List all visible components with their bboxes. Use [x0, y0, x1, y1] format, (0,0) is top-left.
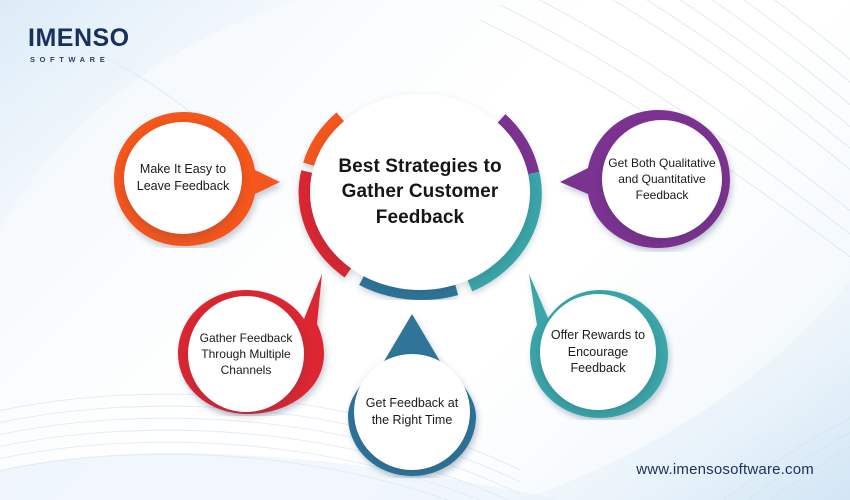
node-multiple-channels-label: Gather Feedback Through Multiple Channel…	[188, 330, 304, 378]
central-hub: Best Strategies to Gather Customer Feedb…	[288, 82, 552, 300]
node-get-both-qual-quant-label: Get Both Qualitative and Quantitative Fe…	[607, 155, 717, 203]
brand-logo: IMENSO SOFTWARE	[28, 26, 130, 64]
node-get-both-qual-quant[interactable]: Get Both Qualitative and Quantitative Fe…	[552, 106, 738, 252]
node-make-it-easy[interactable]: Make It Easy to Leave Feedback	[108, 108, 288, 248]
hub-title-line-3: Feedback	[376, 207, 464, 228]
hub-title-line-1: Best Strategies to	[338, 156, 501, 177]
node-multiple-channels[interactable]: Gather Feedback Through Multiple Channel…	[176, 272, 336, 416]
node-multiple-channels-disc: Gather Feedback Through Multiple Channel…	[188, 296, 304, 412]
node-offer-rewards-label: Offer Rewards to Encourage Feedback	[544, 327, 652, 377]
node-offer-rewards[interactable]: Offer Rewards to Encourage Feedback	[508, 272, 674, 420]
website-url[interactable]: www.imensosoftware.com	[636, 461, 814, 478]
node-right-time-disc: Get Feedback at the Right Time	[354, 354, 470, 470]
hub-title: Best Strategies to Gather Customer Feedb…	[325, 154, 515, 230]
hub-title-line-2: Gather Customer	[342, 181, 499, 202]
node-right-time[interactable]: Get Feedback at the Right Time	[340, 312, 500, 478]
node-offer-rewards-disc: Offer Rewards to Encourage Feedback	[540, 294, 656, 410]
brand-tagline: SOFTWARE	[30, 55, 130, 64]
node-make-it-easy-disc: Make It Easy to Leave Feedback	[124, 122, 242, 234]
hub-inner-circle: Best Strategies to Gather Customer Feedb…	[310, 94, 530, 290]
node-get-both-qual-quant-disc: Get Both Qualitative and Quantitative Fe…	[602, 120, 722, 238]
node-make-it-easy-label: Make It Easy to Leave Feedback	[131, 161, 235, 195]
node-right-time-label: Get Feedback at the Right Time	[360, 395, 464, 429]
brand-name: IMENSO	[28, 26, 130, 51]
infographic-canvas: IMENSO SOFTWARE	[0, 0, 850, 500]
